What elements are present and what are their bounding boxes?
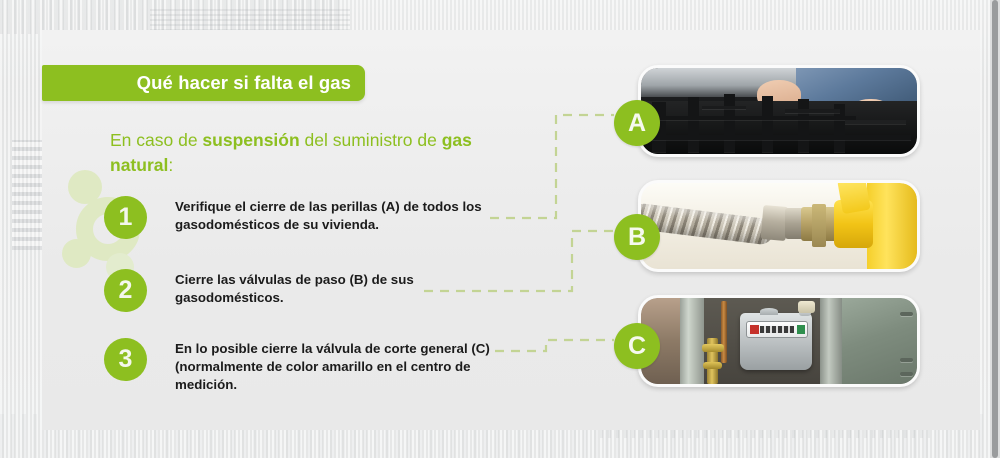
photo-b-scene	[641, 183, 917, 269]
intro-part-3: :	[168, 155, 173, 175]
step-text-bold: (B)	[349, 272, 367, 287]
photo-b-yellow-valve-handle	[837, 183, 870, 214]
photo-b-brass-fitting	[812, 204, 826, 247]
panel-badge-a: A	[614, 100, 660, 146]
photo-c-scene	[641, 298, 917, 384]
gas-meter-cabinet-photo	[641, 298, 917, 384]
intro-bold-1: suspensión	[202, 130, 299, 150]
title-banner-label: Qué hacer si falta el gas	[137, 72, 351, 94]
photo-c-cabinet-door-right	[820, 298, 842, 384]
photo-a-grate-rail	[647, 116, 857, 120]
photo-panel-b	[638, 180, 920, 272]
photo-c-meter-dial	[746, 321, 808, 338]
photo-c-regulator-cap	[798, 301, 815, 313]
step-text: Verifique el cierre de las perillas (A) …	[175, 198, 515, 234]
intro-heading: En caso de suspensión del suministro de …	[110, 128, 530, 178]
intro-part-1: En caso de	[110, 130, 202, 150]
intro-part-2: del suministro de	[300, 130, 442, 150]
photo-c-cabinet-door-left	[680, 298, 705, 384]
step-text-after: (normalmente de color amarillo en el cen…	[175, 359, 471, 392]
scrollbar-track[interactable]	[990, 0, 1000, 458]
step-text: Cierre las válvulas de paso (B) de sus g…	[175, 271, 515, 307]
photo-a-scene	[641, 68, 917, 154]
step-text-bold: (A)	[381, 199, 399, 214]
panel-badge-c: C	[614, 323, 660, 369]
step-text-before: Cierre las válvulas de paso	[175, 272, 349, 287]
flexible-gas-hose-yellow-valve-photo	[641, 183, 917, 269]
photo-c-vent-slot	[900, 372, 913, 376]
photo-c-vent-slot	[900, 358, 913, 362]
photo-a-grate-cross	[785, 109, 840, 112]
photo-a-stove-top	[641, 101, 917, 154]
photo-a-grate-bar	[762, 96, 773, 153]
step-number-badge: 3	[104, 338, 147, 381]
photo-c-cabinet-panel-right	[842, 298, 917, 384]
step-text-before: Verifique el cierre de las perillas	[175, 199, 381, 214]
photo-c-meter-dome	[760, 308, 777, 315]
photo-c-meter-digits	[760, 326, 794, 333]
stove-burner-knobs-photo	[641, 68, 917, 154]
panel-badge-b: B	[614, 214, 660, 260]
photo-a-grate-bar	[724, 94, 735, 152]
photo-c-vent-slot	[900, 312, 913, 316]
slide-content-layer: Qué hacer si falta el gas En caso de sus…	[0, 0, 1000, 458]
scrollbar-thumb[interactable]	[992, 0, 998, 458]
photo-a-grate-rail	[647, 135, 912, 140]
photo-c-meter-green-mark	[797, 325, 805, 334]
photo-c-copper-pipe	[721, 301, 727, 363]
photo-b-yellow-pipe	[867, 183, 917, 269]
step-text-bold: (C)	[471, 341, 489, 356]
photo-a-grate-cross	[702, 106, 746, 109]
photo-panel-a	[638, 65, 920, 157]
photo-c-brass-valve	[703, 362, 722, 369]
slide-root: Qué hacer si falta el gas En caso de sus…	[0, 0, 1000, 458]
photo-b-flexible-hose	[641, 202, 775, 245]
photo-a-grate-bar	[798, 99, 809, 152]
title-banner: Qué hacer si falta el gas	[42, 65, 365, 101]
step-number-badge: 1	[104, 196, 147, 239]
photo-a-grate-bar	[688, 97, 699, 152]
photo-panel-c	[638, 295, 920, 387]
step-text: En lo posible cierre la válvula de corte…	[175, 340, 515, 394]
photo-a-knob-row	[845, 120, 906, 124]
decorative-circle-icon	[62, 239, 91, 268]
photo-c-brass-valve	[702, 344, 724, 352]
photo-c-meter-red-mark	[750, 325, 760, 334]
step-text-before: En lo posible cierre la válvula de corte…	[175, 341, 471, 356]
photo-c-gas-meter	[740, 313, 812, 370]
step-number-badge: 2	[104, 269, 147, 312]
